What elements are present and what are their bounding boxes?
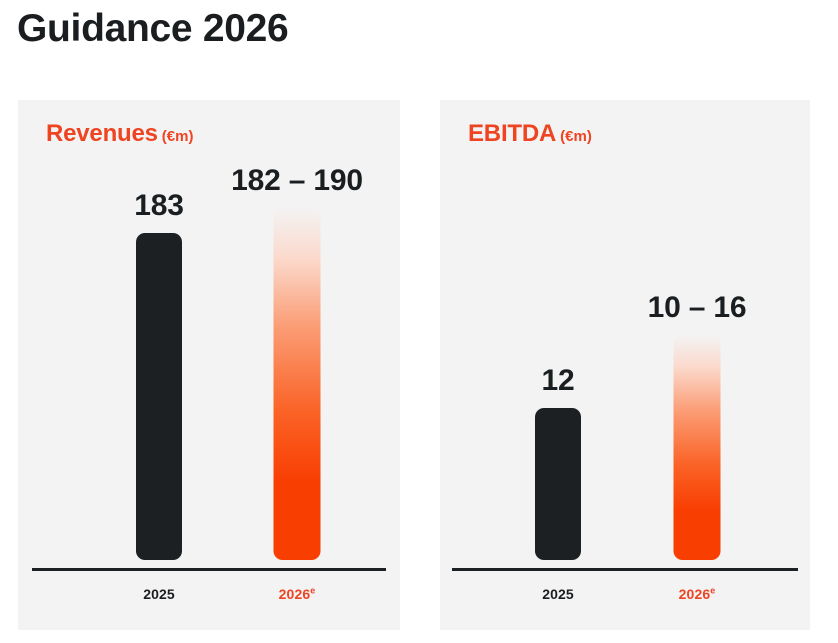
plot-area-revenues: 183 2025 182 – 190 2026e <box>18 100 400 630</box>
panel-revenues: Revenues(€m) 183 2025 182 – 190 2026e <box>18 100 400 630</box>
plot-area-ebitda: 12 2025 10 – 16 2026e <box>440 100 810 630</box>
bar-tick-2026e: 2026e <box>279 586 316 602</box>
bar-estimate-2026e[interactable] <box>274 208 321 560</box>
bar-actual-2025[interactable] <box>136 233 182 560</box>
bar-tick-2025: 2025 <box>143 586 175 602</box>
bar-value-label: 10 – 16 <box>648 291 747 325</box>
bar-tick-2025: 2025 <box>542 586 574 602</box>
bar-group-2025: 183 2025 <box>99 100 219 630</box>
bar-group-2025: 12 2025 <box>498 100 618 630</box>
bar-value-label: 12 <box>542 364 575 398</box>
bar-value-label: 183 <box>134 189 183 223</box>
bar-estimate-2026e[interactable] <box>674 335 721 560</box>
bar-actual-2025[interactable] <box>535 408 581 560</box>
bar-tick-superscript: e <box>310 585 315 595</box>
bar-tick-text: 2025 <box>542 586 574 602</box>
bar-group-2026e: 10 – 16 2026e <box>637 100 757 630</box>
page-title: Guidance 2026 <box>17 4 288 55</box>
bar-tick-text: 2026 <box>279 586 311 602</box>
bar-tick-superscript: e <box>710 585 715 595</box>
bar-group-2026e: 182 – 190 2026e <box>237 100 357 630</box>
bar-tick-text: 2026 <box>679 586 711 602</box>
bar-tick-text: 2025 <box>143 586 175 602</box>
bar-value-label: 182 – 190 <box>231 164 363 198</box>
panel-ebitda: EBITDA(€m) 12 2025 10 – 16 2026e <box>440 100 810 630</box>
bar-tick-2026e: 2026e <box>679 586 716 602</box>
